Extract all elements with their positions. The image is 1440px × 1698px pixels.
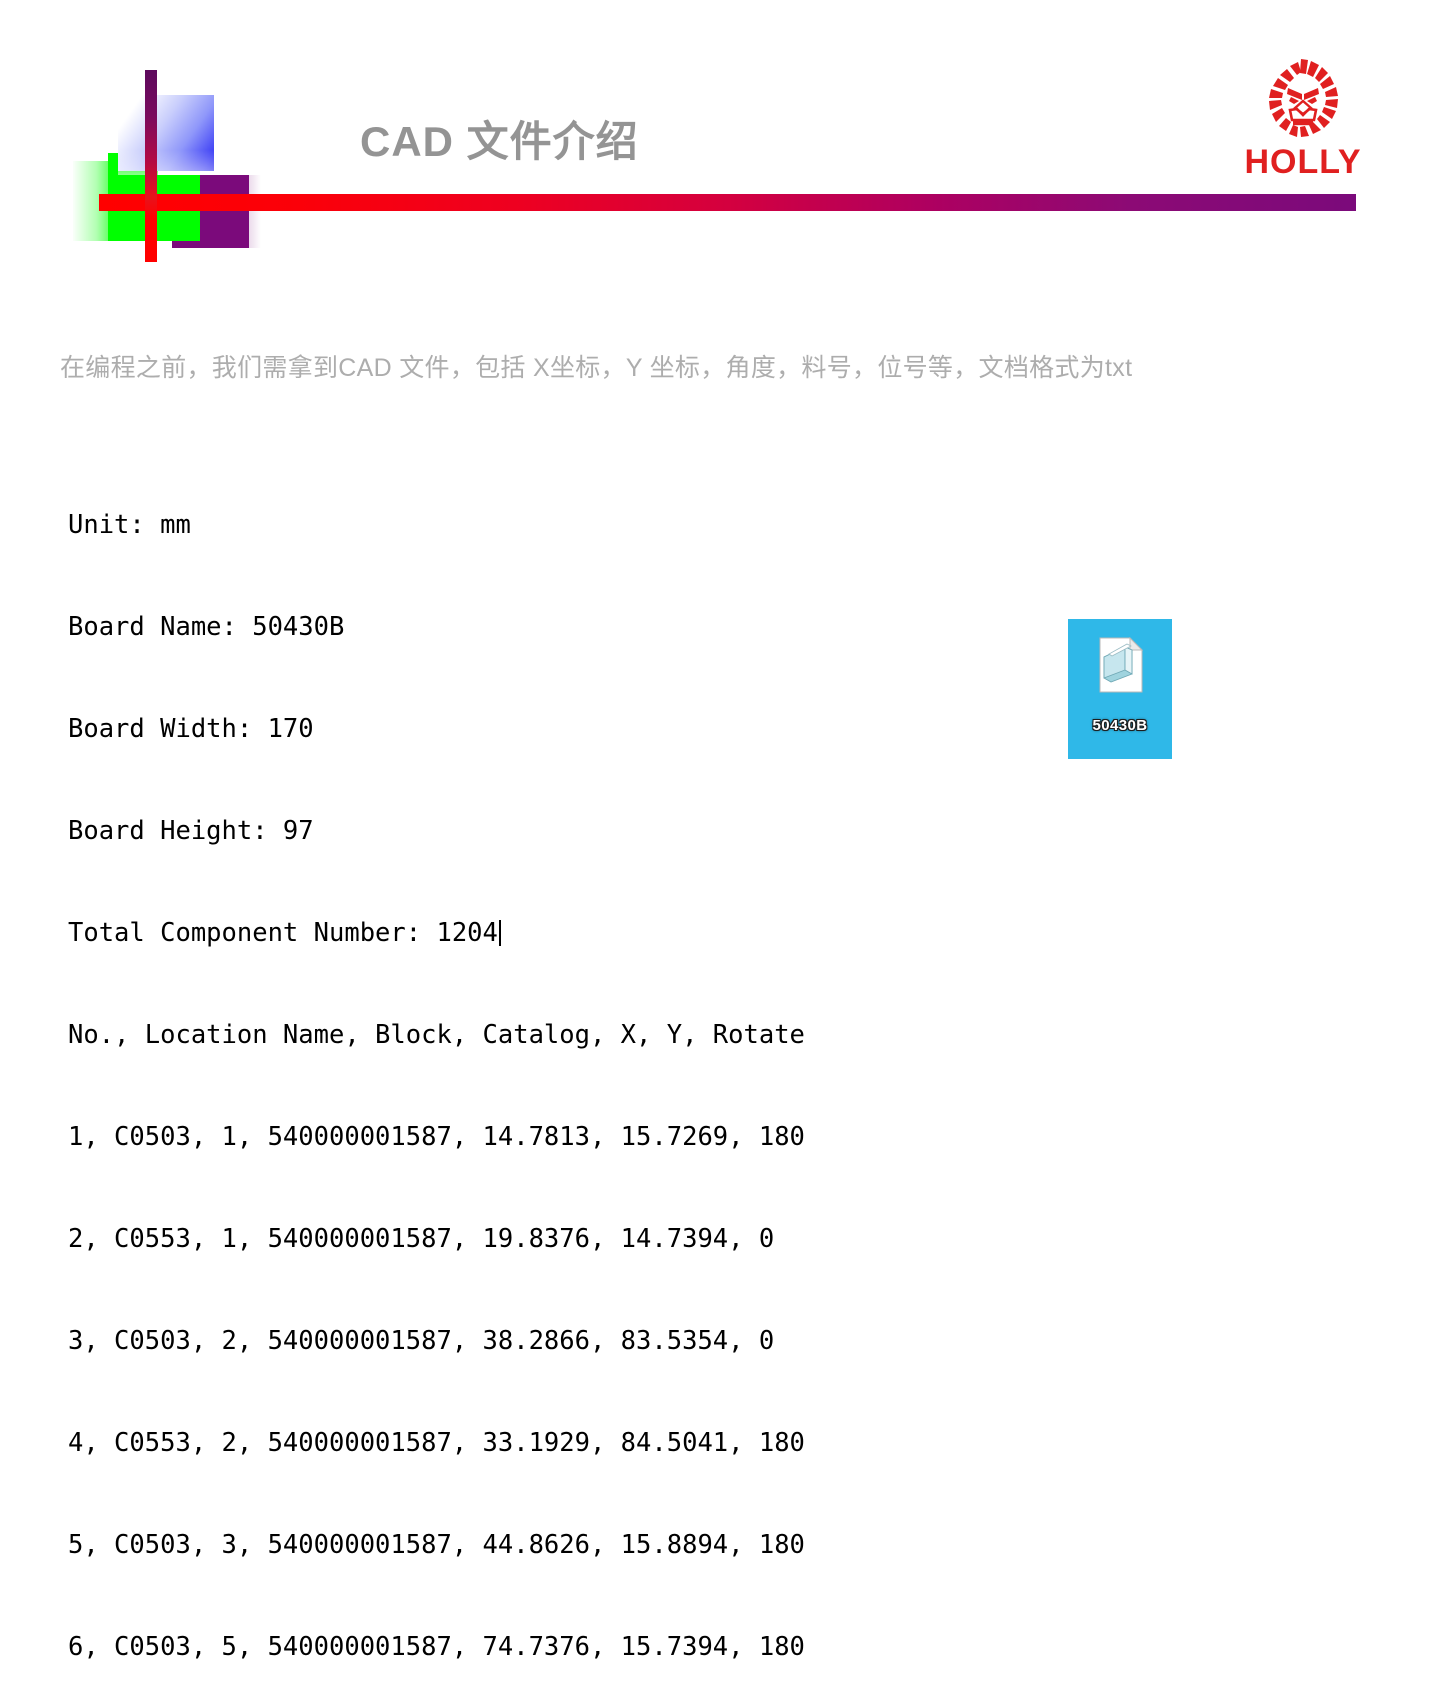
file-data-row: 3, C0503, 2, 540000001587, 38.2866, 83.5… — [68, 1324, 805, 1358]
file-line-unit: Unit: mm — [68, 508, 805, 542]
deco-horizontal-bar — [99, 194, 1356, 211]
deco-green-gradient — [73, 161, 125, 241]
deco-vertical-bar — [145, 70, 157, 262]
file-line-board-width: Board Width: 170 — [68, 712, 805, 746]
page-title: CAD 文件介绍 — [360, 108, 639, 169]
file-line-board-height: Board Height: 97 — [68, 814, 805, 848]
deco-purple-block — [172, 175, 249, 248]
lion-head-icon — [1261, 57, 1345, 141]
total-value: 1204 — [436, 918, 497, 948]
deco-blue-fade — [118, 150, 214, 175]
brand-wordmark: HOLLY — [1243, 145, 1363, 179]
file-data-row: 1, C0503, 1, 540000001587, 14.7813, 15.7… — [68, 1120, 805, 1154]
header-decoration — [0, 0, 1440, 280]
file-data-row: 2, C0553, 1, 540000001587, 19.8376, 14.7… — [68, 1222, 805, 1256]
deco-blue-square — [118, 95, 214, 171]
text-document-icon — [1098, 637, 1144, 693]
file-line-total-components: Total Component Number: 1204 — [68, 916, 805, 950]
deco-green-upper-block — [108, 153, 158, 241]
file-data-row: 6, C0503, 5, 540000001587, 74.7376, 15.7… — [68, 1630, 805, 1664]
desktop-icon-label: 50430B — [1068, 717, 1172, 734]
cad-file-text: Unit: mm Board Name: 50430B Board Width:… — [68, 440, 805, 1698]
total-label: Total Component Number: — [68, 918, 436, 948]
text-caret — [499, 920, 501, 946]
deco-purple-gradient — [215, 175, 261, 248]
file-line-column-header: No., Location Name, Block, Catalog, X, Y… — [68, 1018, 805, 1052]
deco-green-stub-block — [168, 175, 198, 241]
brand-logo: HOLLY — [1243, 57, 1363, 187]
slide-subtitle: 在编程之前，我们需拿到CAD 文件，包括 X坐标，Y 坐标，角度，料号，位号等，… — [60, 348, 1360, 384]
desktop-file-icon[interactable]: 50430B — [1068, 619, 1172, 759]
deco-green-main-block — [108, 175, 200, 241]
file-data-row: 4, C0553, 2, 540000001587, 33.1929, 84.5… — [68, 1426, 805, 1460]
file-data-row: 5, C0503, 3, 540000001587, 44.8626, 15.8… — [68, 1528, 805, 1562]
file-line-board-name: Board Name: 50430B — [68, 610, 805, 644]
